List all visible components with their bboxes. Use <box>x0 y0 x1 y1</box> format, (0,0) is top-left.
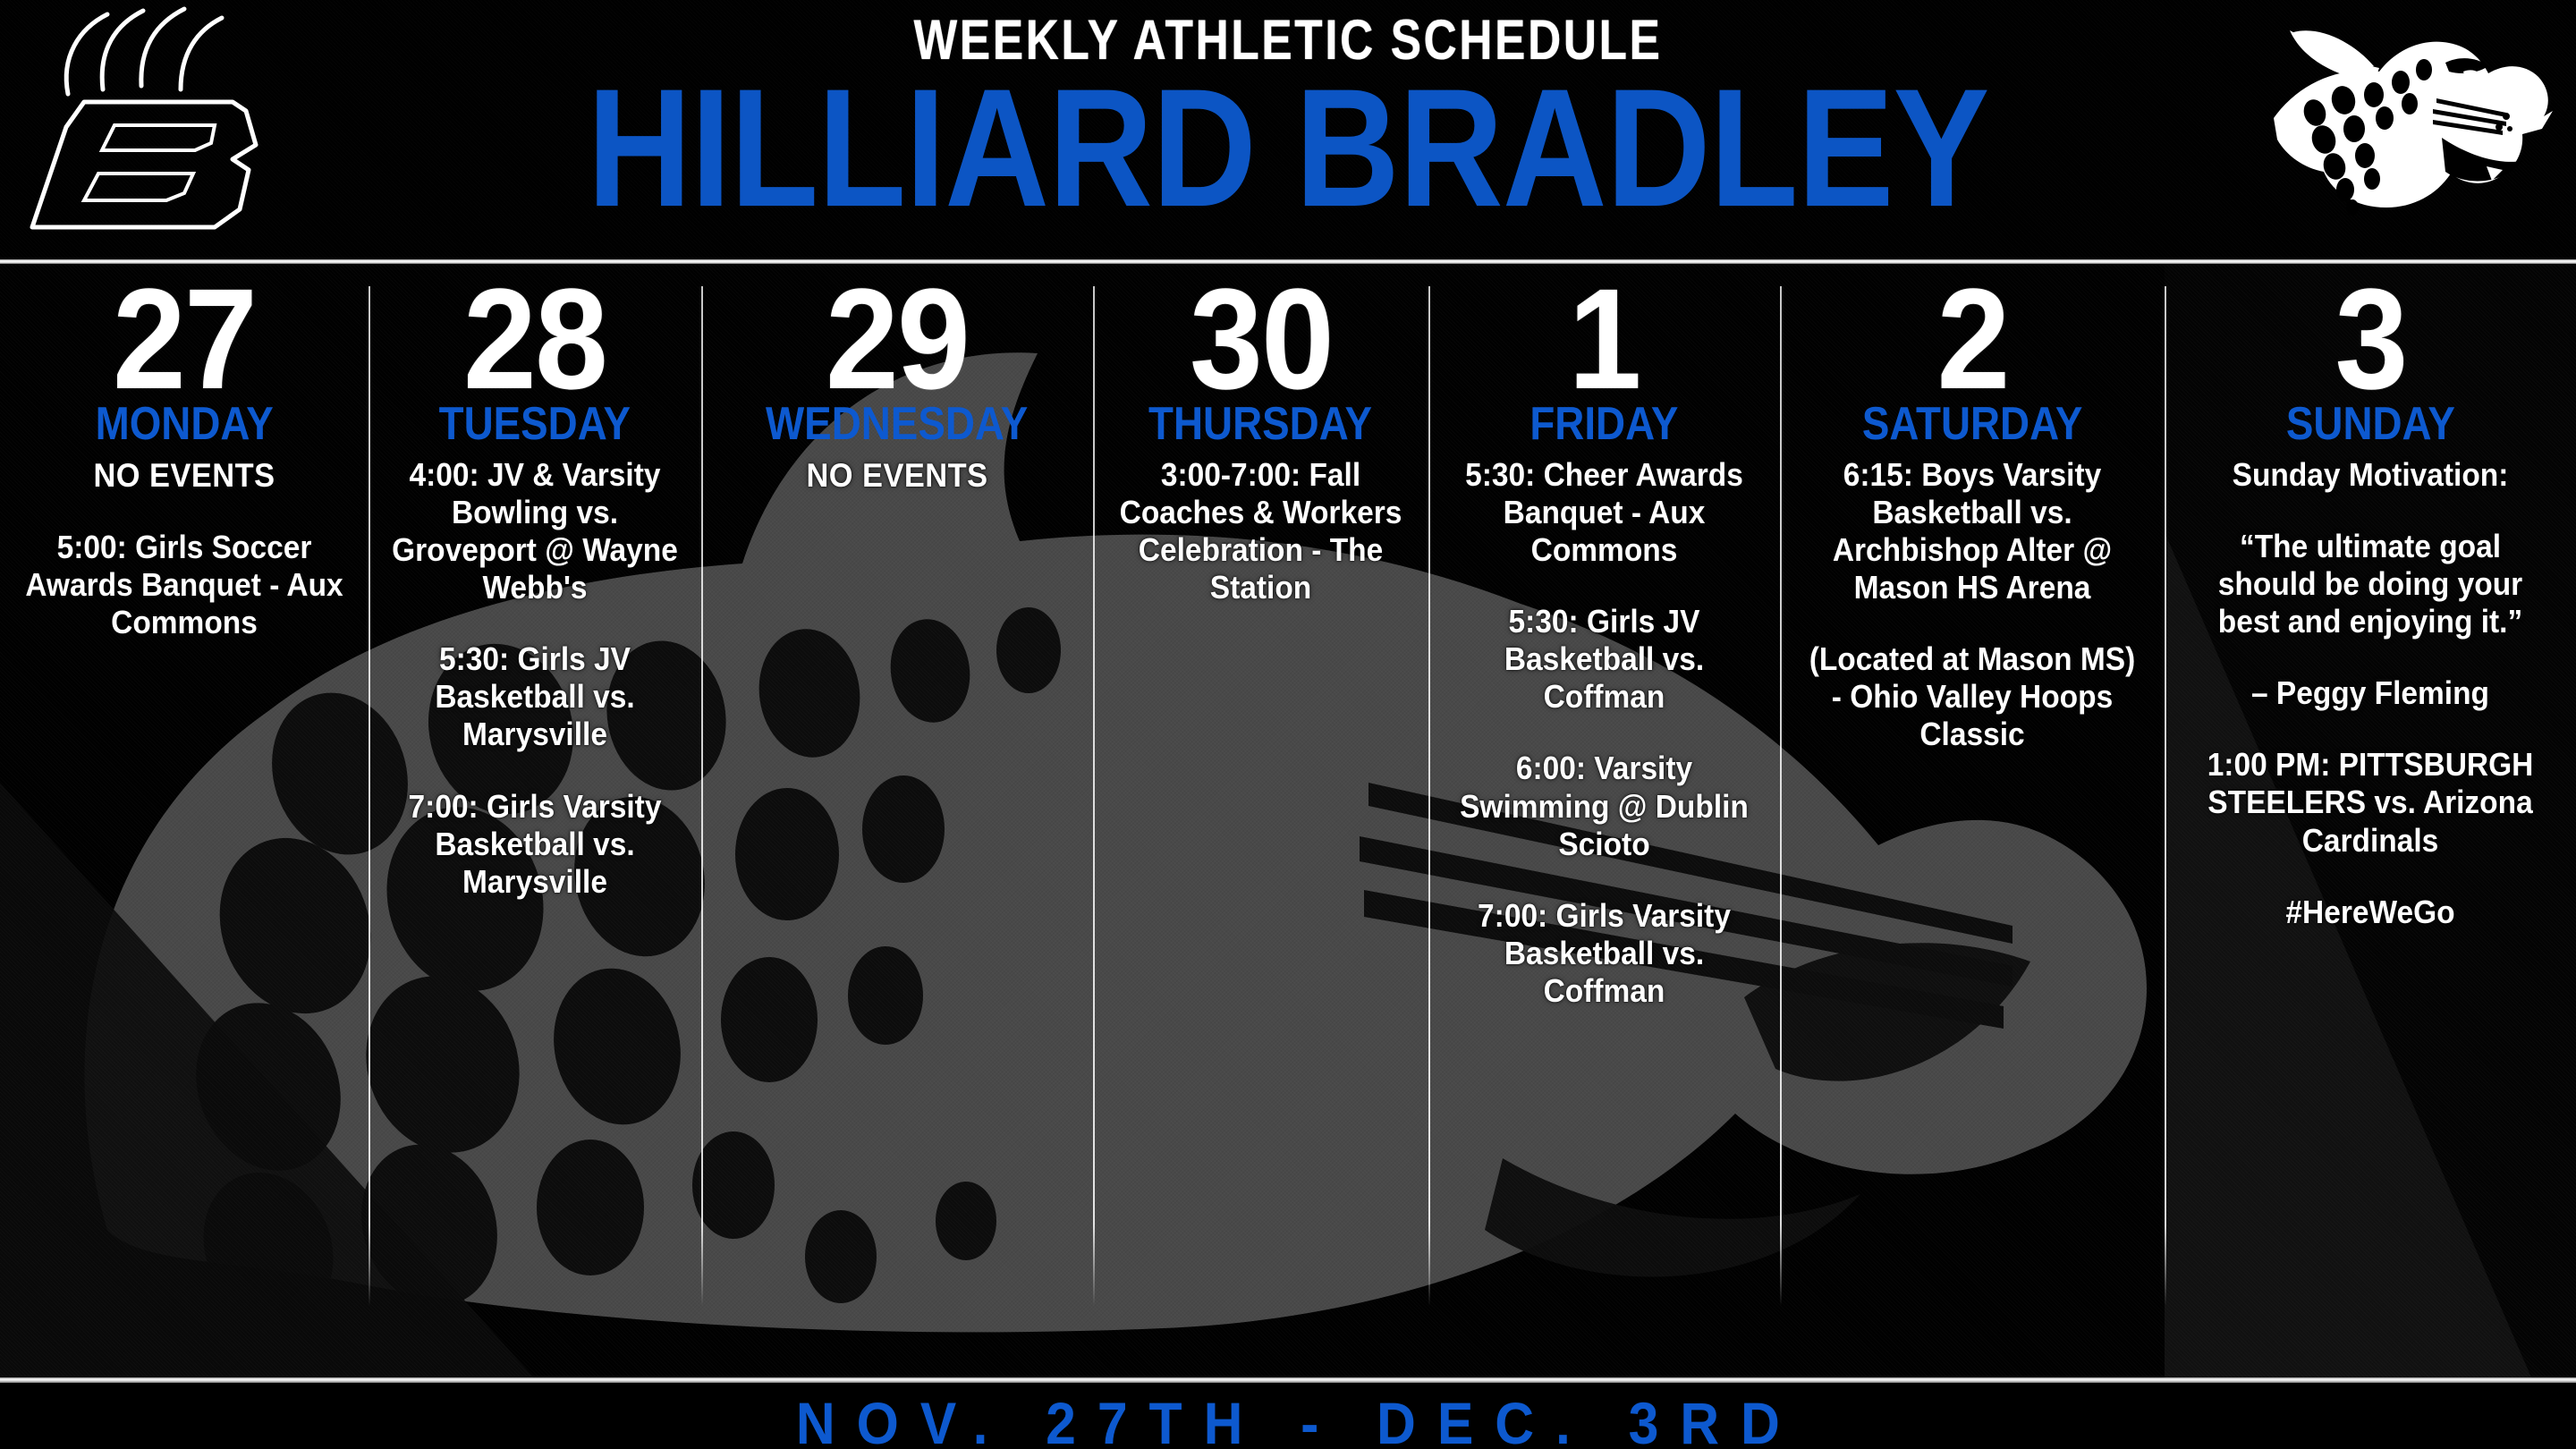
schedule-graphic: WEEKLY ATHLETIC SCHEDULE HILLIARD BRADLE… <box>0 0 2576 1449</box>
event-item: 4:00: JV & Varsity Bowling vs. Groveport… <box>392 456 678 606</box>
day-name: TUESDAY <box>439 401 631 447</box>
footer: NOV. 27TH - DEC. 3RD <box>0 1377 2576 1449</box>
day-column-thursday: 30 THURSDAY 3:00-7:00: Fall Coaches & Wo… <box>1093 264 1428 1377</box>
bradley-b-logo <box>9 2 331 257</box>
week-grid: 27 MONDAY NO EVENTS 5:00: Girls Soccer A… <box>0 264 2576 1377</box>
day-number: 1 <box>1568 284 1640 395</box>
event-item: NO EVENTS <box>726 456 1067 495</box>
event-list: Sunday Motivation: “The ultimate goal sh… <box>2177 456 2563 931</box>
day-column-friday: 1 FRIDAY 5:30: Cheer Awards Banquet - Au… <box>1428 264 1780 1377</box>
day-column-saturday: 2 SATURDAY 6:15: Boys Varsity Basketball… <box>1780 264 2165 1377</box>
event-item: “The ultimate goal should be doing your … <box>2190 528 2550 640</box>
event-list: 3:00-7:00: Fall Coaches & Workers Celebr… <box>1106 456 1416 606</box>
event-item: 6:15: Boys Varsity Basketball vs. Archbi… <box>1805 456 2140 606</box>
date-range-bar: NOV. 27TH - DEC. 3RD <box>0 1383 2576 1449</box>
day-column-monday: 27 MONDAY NO EVENTS 5:00: Girls Soccer A… <box>0 264 369 1377</box>
day-number: 28 <box>463 284 606 395</box>
jaguar-head-logo <box>2238 4 2560 258</box>
event-list: NO EVENTS 5:00: Girls Soccer Awards Banq… <box>13 456 356 642</box>
header: WEEKLY ATHLETIC SCHEDULE HILLIARD BRADLE… <box>0 0 2576 264</box>
event-item: 1:00 PM: PITTSBURGH STEELERS vs. Arizona… <box>2190 746 2550 859</box>
event-list: NO EVENTS <box>714 456 1080 495</box>
school-name: HILLIARD BRADLEY <box>472 71 2103 225</box>
day-number: 29 <box>826 284 969 395</box>
event-list: 6:15: Boys Varsity Basketball vs. Archbi… <box>1792 456 2152 754</box>
event-list: 5:30: Cheer Awards Banquet - Aux Commons… <box>1441 456 1767 1010</box>
day-number: 27 <box>113 284 256 395</box>
event-item: 6:00: Varsity Swimming @ Dublin Scioto <box>1453 750 1756 862</box>
event-item: 5:30: Cheer Awards Banquet - Aux Commons <box>1453 456 1756 569</box>
day-name: SATURDAY <box>1862 401 2083 447</box>
event-item: 5:30: Girls JV Basketball vs. Marysville <box>392 640 678 753</box>
title-block: WEEKLY ATHLETIC SCHEDULE HILLIARD BRADLE… <box>340 0 2236 259</box>
event-item: 5:30: Girls JV Basketball vs. Coffman <box>1453 603 1756 716</box>
day-name: MONDAY <box>95 401 273 447</box>
day-number: 3 <box>2334 284 2406 395</box>
event-item: NO EVENTS <box>24 456 343 495</box>
column-divider <box>1093 286 1095 1306</box>
column-divider <box>1780 286 1782 1306</box>
event-item: (Located at Mason MS) - Ohio Valley Hoop… <box>1805 640 2140 753</box>
column-divider <box>2165 286 2166 1306</box>
event-item: – Peggy Fleming <box>2190 674 2550 712</box>
column-divider <box>1428 286 1430 1306</box>
day-name: THURSDAY <box>1148 401 1372 447</box>
event-item: #HereWeGo <box>2190 894 2550 931</box>
day-name: FRIDAY <box>1529 401 1678 447</box>
column-divider <box>701 286 703 1306</box>
event-list: 4:00: JV & Varsity Bowling vs. Groveport… <box>381 456 689 901</box>
event-item: 5:00: Girls Soccer Awards Banquet - Aux … <box>24 529 343 641</box>
day-number: 2 <box>1936 284 2008 395</box>
day-column-tuesday: 28 TUESDAY 4:00: JV & Varsity Bowling vs… <box>369 264 701 1377</box>
event-item: 3:00-7:00: Fall Coaches & Workers Celebr… <box>1116 456 1405 606</box>
event-item: Sunday Motivation: <box>2190 456 2550 494</box>
day-name: SUNDAY <box>2285 401 2454 447</box>
day-number: 30 <box>1189 284 1332 395</box>
date-range-label: NOV. 27TH - DEC. 3RD <box>775 1394 1801 1449</box>
column-divider <box>369 286 370 1306</box>
day-column-wednesday: 29 WEDNESDAY NO EVENTS <box>701 264 1093 1377</box>
event-item: 7:00: Girls Varsity Basketball vs. Coffm… <box>1453 897 1756 1010</box>
day-name: WEDNESDAY <box>766 401 1028 447</box>
day-column-sunday: 3 SUNDAY Sunday Motivation: “The ultimat… <box>2165 264 2576 1377</box>
event-item: 7:00: Girls Varsity Basketball vs. Marys… <box>392 788 678 901</box>
